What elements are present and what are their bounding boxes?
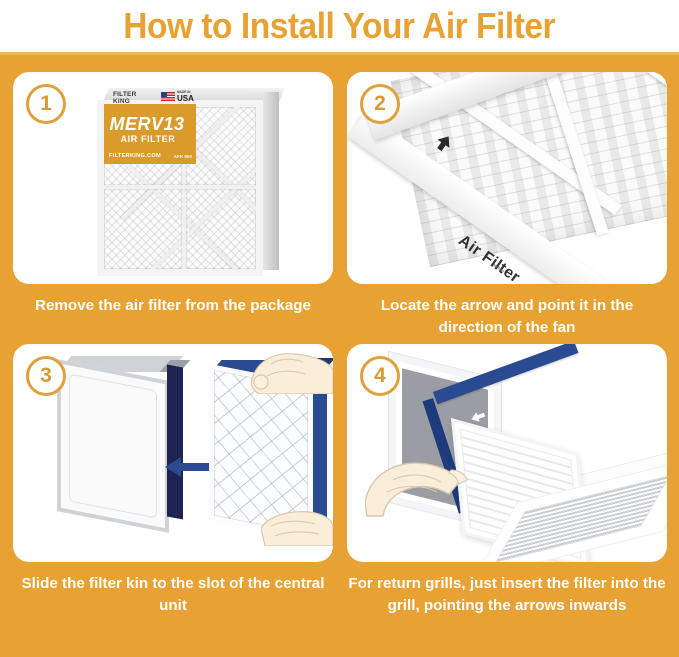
brand-website: FILTERKING.COM <box>109 153 161 159</box>
step-4-number-badge: 4 <box>360 356 400 396</box>
hand-bottom-icon <box>261 506 333 546</box>
step-1-number-badge: 1 <box>26 84 66 124</box>
step-3-panel: 3 <box>13 344 333 562</box>
step-4-caption: For return grills, just insert the filte… <box>347 573 667 617</box>
filter-king-logo: FILTER KING <box>113 92 136 105</box>
filter-side-edge <box>263 92 279 270</box>
step-2: Air Filter airflow 2 Locate the arrow an… <box>347 72 667 339</box>
filter-label: MERV13 AIR FILTER FILTERKING.COM APR 850 <box>104 104 196 164</box>
steps-grid: FILTER KING MADE IN USA MERV13 <box>0 52 679 657</box>
step-2-panel: Air Filter airflow 2 <box>347 72 667 284</box>
filter-photo: FILTER KING MADE IN USA MERV13 <box>97 88 279 270</box>
filter-type: AIR FILTER <box>104 134 192 144</box>
insert-direction-arrow-icon <box>165 454 211 480</box>
step-1-caption: Remove the air filter from the package <box>13 295 333 317</box>
step-3: 3 Slide the filter kin to the slot of th… <box>13 344 333 617</box>
hand-inserting-icon <box>365 448 469 520</box>
step-3-number-badge: 3 <box>26 356 66 396</box>
apr-rating: APR 850 <box>173 154 192 159</box>
brand-name-line2: KING <box>113 99 136 106</box>
page-title: How to Install Your Air Filter <box>124 5 556 47</box>
usa-flag-icon <box>161 92 175 101</box>
step-1: FILTER KING MADE IN USA MERV13 <box>13 72 333 317</box>
made-in-usa-badge: MADE IN USA <box>161 91 194 103</box>
title-bar: How to Install Your Air Filter <box>0 0 679 52</box>
step-4-panel: 4 <box>347 344 667 562</box>
central-unit-slot <box>167 364 183 519</box>
step-3-caption: Slide the filter kin to the slot of the … <box>13 573 333 617</box>
step-4: 4 For return grills, just insert the fil… <box>347 344 667 617</box>
step-1-panel: FILTER KING MADE IN USA MERV13 <box>13 72 333 284</box>
hand-top-icon <box>249 350 333 394</box>
infographic-root: How to Install Your Air Filter <box>0 0 679 657</box>
central-unit-face <box>57 359 169 533</box>
step-2-caption: Locate the arrow and point it in the dir… <box>347 295 667 339</box>
country-text: USA <box>177 95 194 103</box>
central-unit <box>57 356 187 528</box>
merv-rating: MERV13 <box>104 114 190 135</box>
step-2-number-badge: 2 <box>360 84 400 124</box>
